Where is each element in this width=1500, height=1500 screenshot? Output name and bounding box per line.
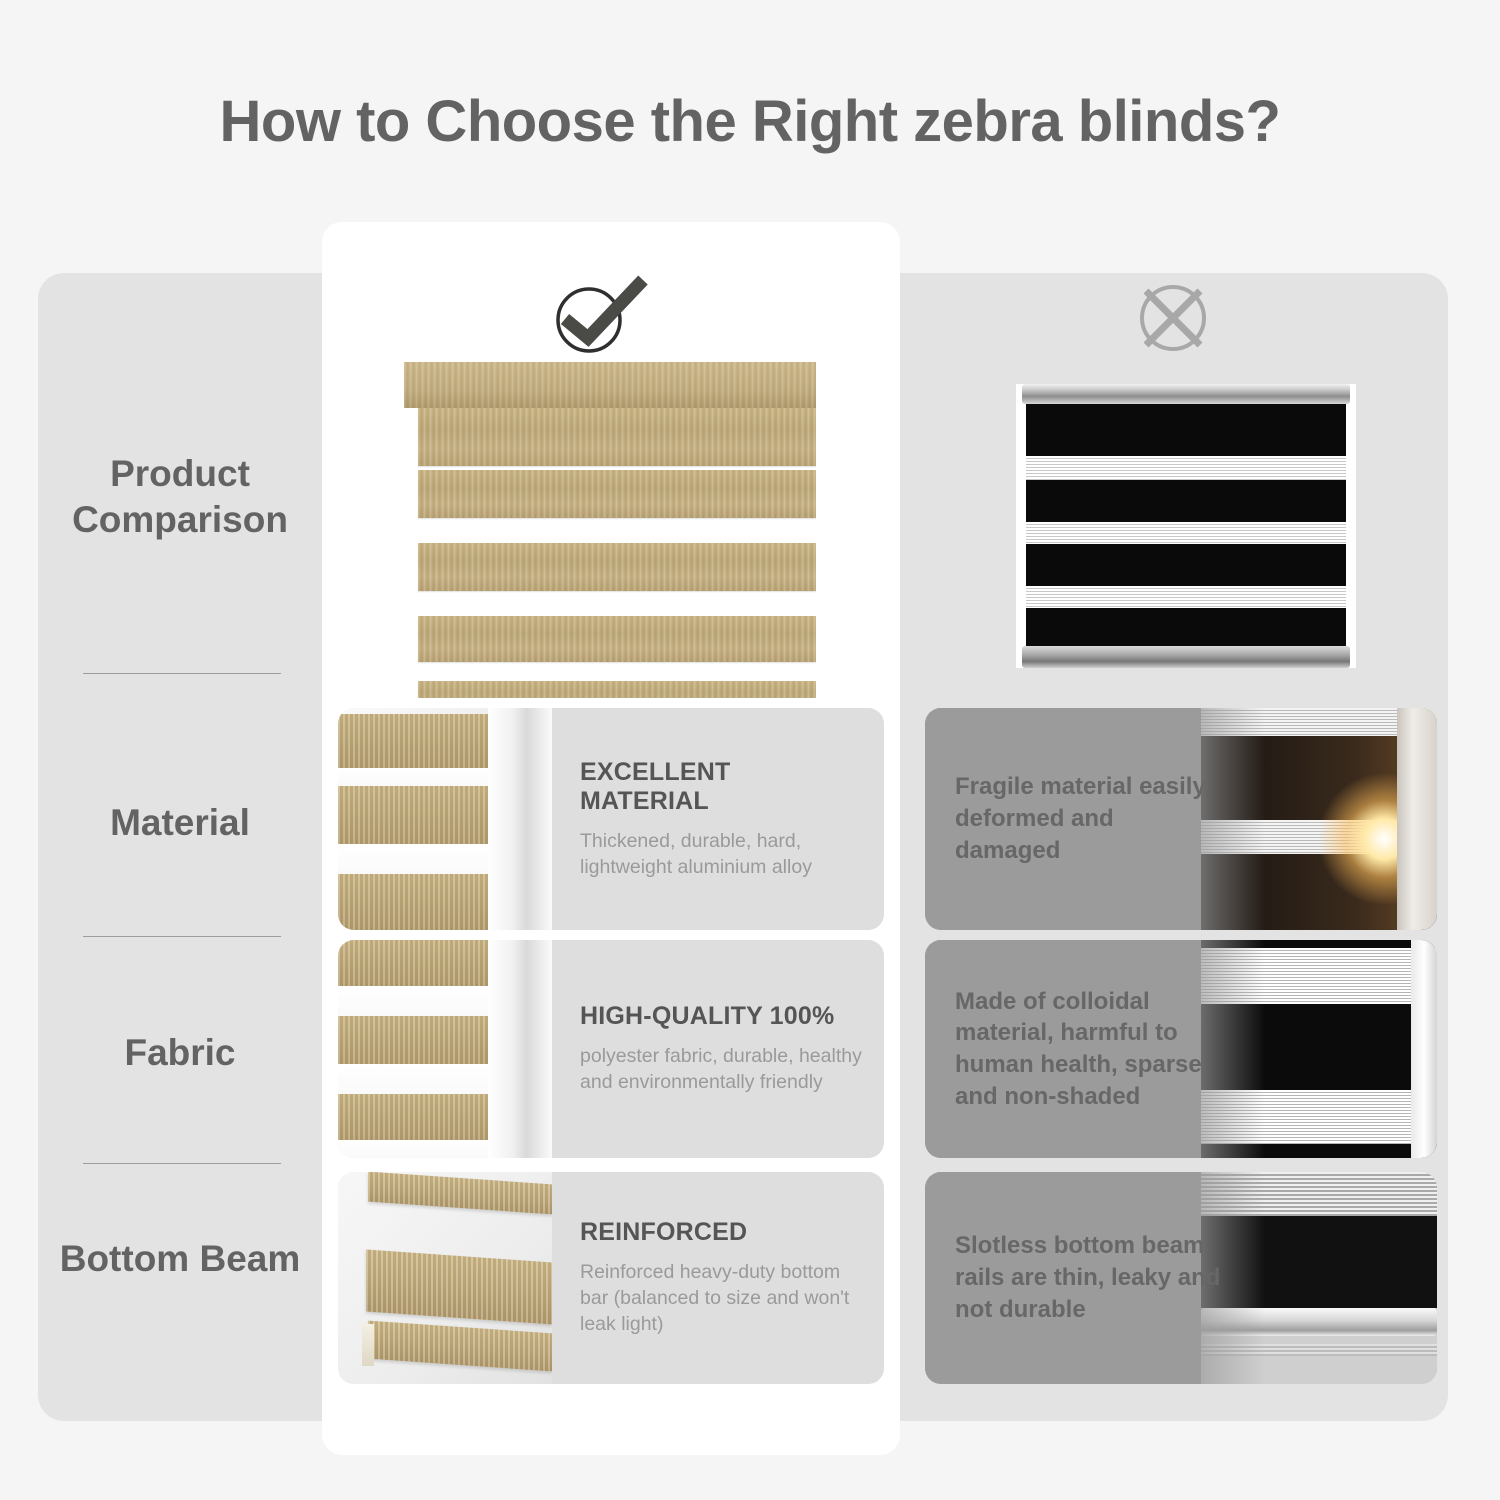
good-material-text: EXCELLENT MATERIAL Thickened, durable, h… xyxy=(552,708,884,930)
feature-heading: REINFORCED xyxy=(580,1218,864,1247)
bad-feature-card-bottom-beam: Slotless bottom beam rails are thin, lea… xyxy=(925,1172,1437,1384)
bad-fabric-text: Made of colloidal material, harmful to h… xyxy=(955,940,1225,1158)
bad-feature-card-fabric: Made of colloidal material, harmful to h… xyxy=(925,940,1437,1158)
good-hero-image xyxy=(404,358,816,698)
check-circle-icon xyxy=(545,268,655,360)
row-divider xyxy=(83,1163,281,1164)
page-title: How to Choose the Right zebra blinds? xyxy=(0,88,1500,155)
bad-material-text: Fragile material easily deformed and dam… xyxy=(955,708,1225,930)
good-material-photo xyxy=(338,708,552,930)
feature-heading: HIGH-QUALITY 100% xyxy=(580,1002,864,1031)
row-label-column: Product Comparison Material Fabric Botto… xyxy=(38,273,322,1421)
row-label-line-1: Product Comparison xyxy=(38,451,322,544)
feature-body: Fragile material easily deformed and dam… xyxy=(955,771,1225,866)
bad-bottom-beam-text: Slotless bottom beam rails are thin, lea… xyxy=(955,1172,1225,1384)
good-fabric-photo xyxy=(338,940,552,1158)
bad-hero-image xyxy=(1012,376,1360,676)
row-divider xyxy=(83,936,281,937)
good-feature-card-fabric: HIGH-QUALITY 100% polyester fabric, dura… xyxy=(338,940,884,1158)
good-feature-card-material: EXCELLENT MATERIAL Thickened, durable, h… xyxy=(338,708,884,930)
feature-body: Thickened, durable, hard, lightweight al… xyxy=(580,829,864,881)
row-divider xyxy=(83,673,281,674)
row-label-product-comparison: Product Comparison xyxy=(38,451,322,544)
good-bottom-beam-photo xyxy=(338,1172,552,1384)
good-fabric-text: HIGH-QUALITY 100% polyester fabric, dura… xyxy=(552,940,884,1158)
bad-feature-card-material: Fragile material easily deformed and dam… xyxy=(925,708,1437,930)
feature-body: Made of colloidal material, harmful to h… xyxy=(955,986,1225,1113)
good-feature-card-bottom-beam: REINFORCED Reinforced heavy-duty bottom … xyxy=(338,1172,884,1384)
row-label-bottom-beam: Bottom Beam xyxy=(38,1236,322,1282)
row-label-fabric: Fabric xyxy=(38,1030,322,1076)
row-label-material: Material xyxy=(38,800,322,846)
feature-heading: EXCELLENT MATERIAL xyxy=(580,758,864,816)
feature-body: polyester fabric, durable, healthy and e… xyxy=(580,1044,864,1096)
cross-circle-icon xyxy=(1118,272,1228,364)
feature-body: Reinforced heavy-duty bottom bar (balanc… xyxy=(580,1260,864,1338)
feature-body: Slotless bottom beam rails are thin, lea… xyxy=(955,1230,1225,1325)
infographic-root: How to Choose the Right zebra blinds? Pr… xyxy=(0,0,1500,1500)
good-bottom-beam-text: REINFORCED Reinforced heavy-duty bottom … xyxy=(552,1172,884,1384)
